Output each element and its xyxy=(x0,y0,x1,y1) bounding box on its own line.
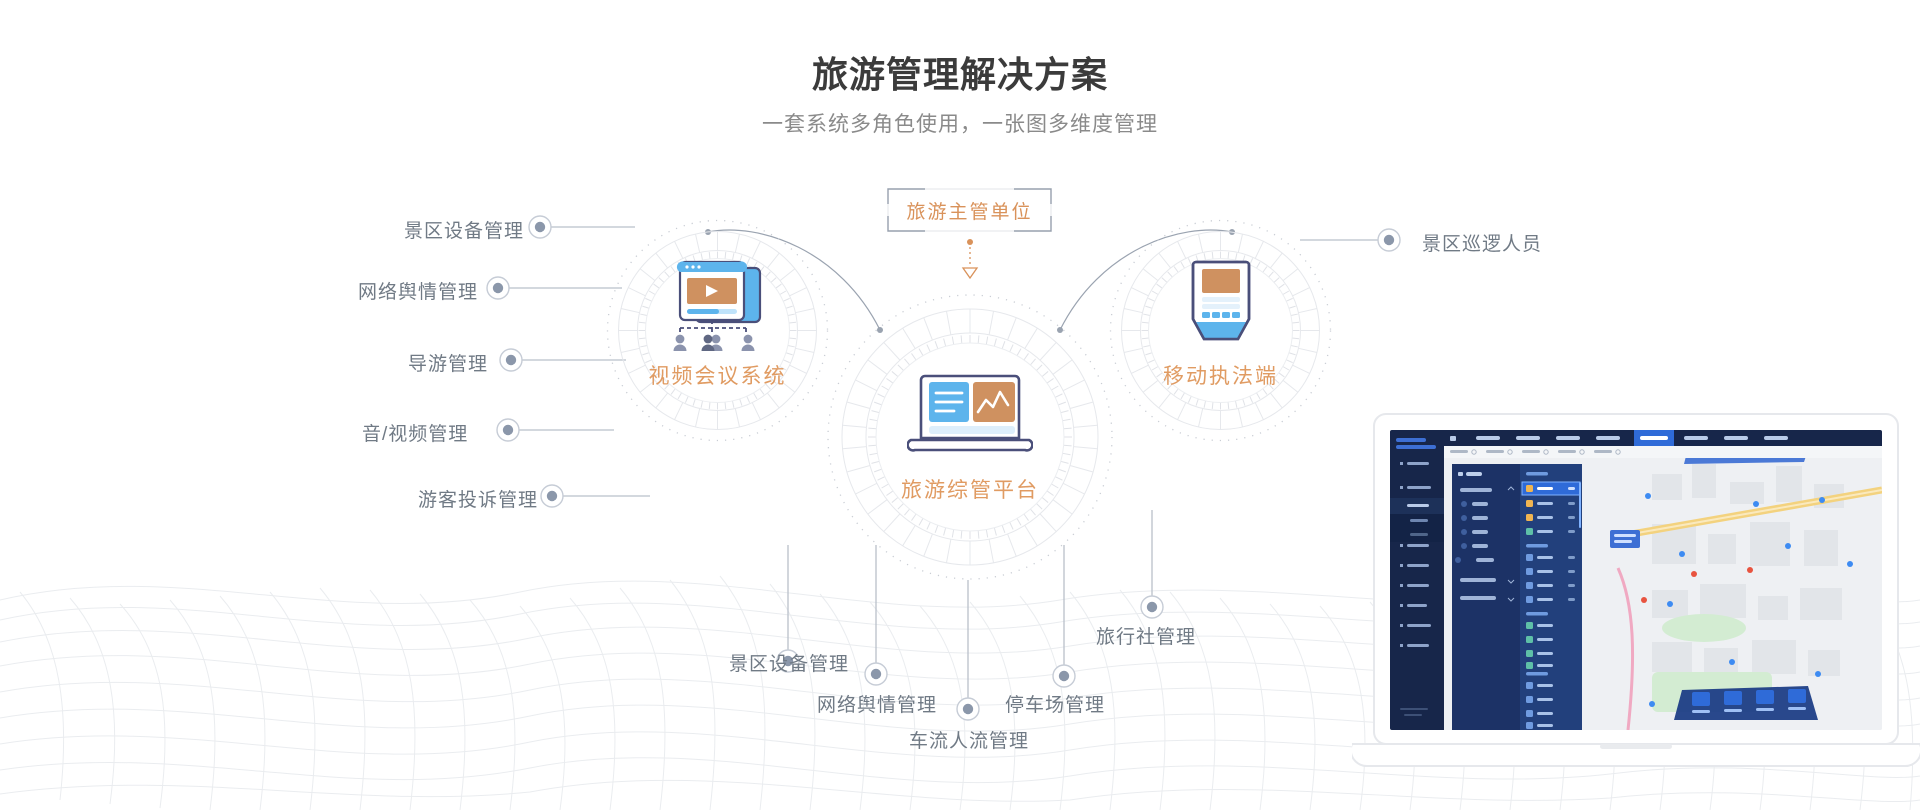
dotted-down-arrow-icon xyxy=(950,238,990,280)
laptop-dashboard-icon xyxy=(825,372,1115,458)
authority-badge: 旅游主管单位 xyxy=(887,188,1052,232)
ring-mobile-enforcement: 移动执法端 xyxy=(1108,218,1333,443)
node-label-bottom-0: 景区设备管理 xyxy=(729,649,849,676)
handheld-device-icon xyxy=(1108,258,1333,344)
page-subtitle: 一套系统多角色使用，一张图多维度管理 xyxy=(0,108,1920,138)
node-label-bottom-3: 停车场管理 xyxy=(1005,690,1105,717)
laptop-mockup xyxy=(1352,404,1920,776)
slide-root: 旅游管理解决方案 一套系统多角色使用，一张图多维度管理 旅游主管单位 xyxy=(0,0,1920,810)
node-label-bottom-2: 车流人流管理 xyxy=(909,726,1029,753)
node-label-left-4: 游客投诉管理 xyxy=(418,485,538,512)
node-label-left-1: 网络舆情管理 xyxy=(358,277,478,304)
ring-central-platform: 旅游综管平台 xyxy=(825,292,1115,582)
ring-label-center: 旅游综管平台 xyxy=(825,474,1115,504)
node-label-left-0: 景区设备管理 xyxy=(404,216,524,243)
node-label-left-2: 导游管理 xyxy=(408,349,488,376)
ring-label-video: 视频会议系统 xyxy=(605,360,830,390)
ring-label-mobile: 移动执法端 xyxy=(1108,360,1333,390)
node-label-bottom-1: 网络舆情管理 xyxy=(817,690,937,717)
authority-badge-label: 旅游主管单位 xyxy=(887,188,1052,232)
node-label-bottom-4: 旅行社管理 xyxy=(1096,622,1196,649)
video-conference-icon xyxy=(605,260,830,352)
page-title: 旅游管理解决方案 xyxy=(0,46,1920,98)
ring-video-conference: 视频会议系统 xyxy=(605,218,830,443)
node-label-left-3: 音/视频管理 xyxy=(362,419,468,446)
node-label-right-0: 景区巡逻人员 xyxy=(1422,229,1542,256)
